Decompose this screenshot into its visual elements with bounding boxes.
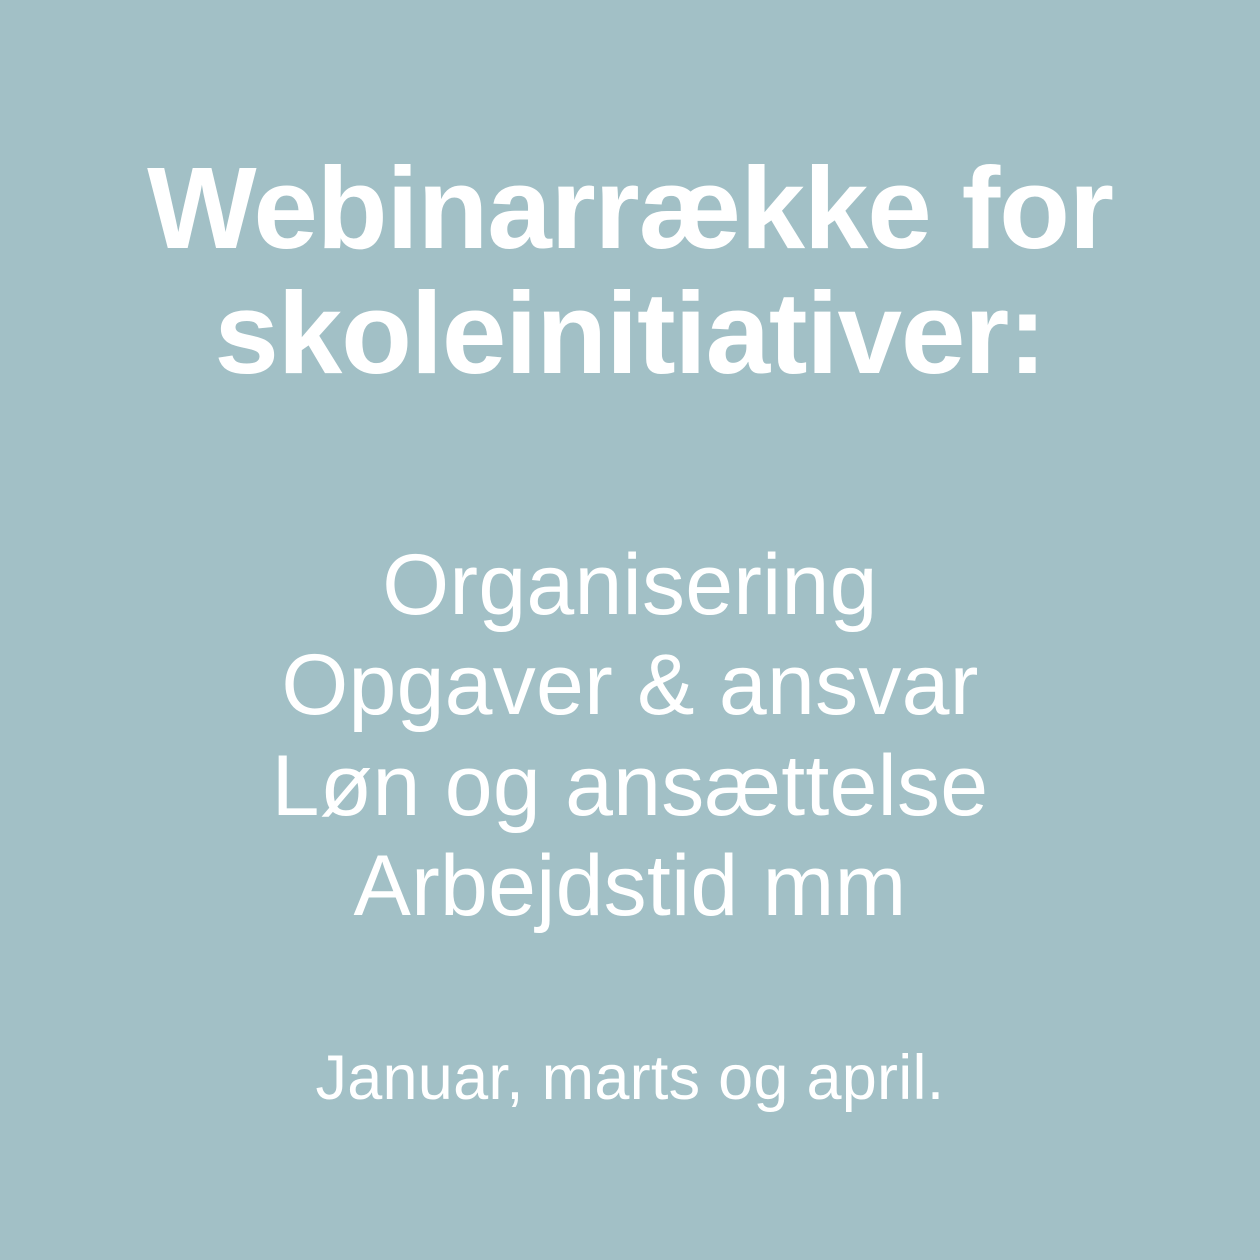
title-line-2: skoleinitiativer: [214,271,1045,396]
schedule-months: Januar, marts og april. [315,1041,944,1117]
topic-line-organisering: Organisering [382,535,877,636]
title-line-1: Webinarrække for [147,146,1113,271]
topic-line-arbejdstid: Arbejdstid mm [354,836,907,937]
poster-title: Webinarrække for skoleinitiativer: [0,146,1260,397]
topic-line-loen-ansaettelse: Løn og ansættelse [272,736,989,837]
poster-topic-list: Organisering Opgaver & ansvar Løn og ans… [0,535,1260,937]
poster-schedule: Januar, marts og april. [0,1041,1260,1117]
topic-line-opgaver-ansvar: Opgaver & ansvar [281,635,978,736]
poster-canvas: Webinarrække for skoleinitiativer: Organ… [0,0,1260,1260]
